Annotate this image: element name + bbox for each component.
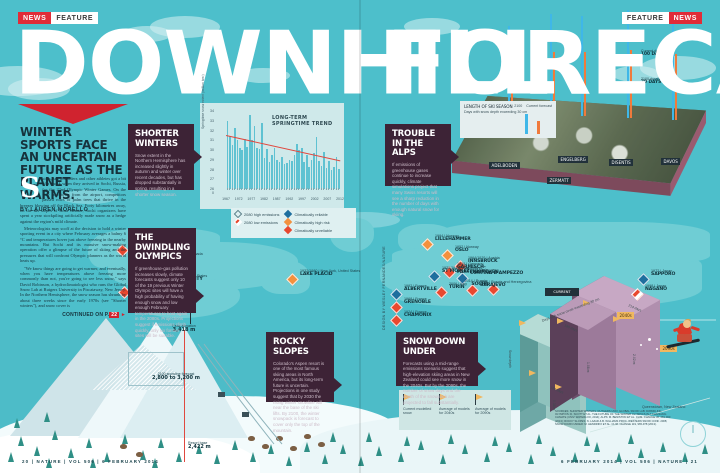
tag-feature[interactable]: FEATURE — [51, 12, 98, 24]
tree-icon — [286, 456, 292, 466]
triangle-right-icon: ► — [121, 312, 126, 318]
olympic-city: GRENOBLE — [404, 301, 468, 305]
resort-label-davos: DAVOS — [661, 158, 680, 165]
year-tag-2040s: 2040s — [617, 312, 634, 319]
snow-spray — [640, 344, 642, 346]
chart-tick-mark — [256, 188, 257, 191]
callout-nib — [194, 150, 202, 164]
chart-tick-mark — [291, 188, 292, 191]
chart-bar — [232, 145, 234, 189]
legend-label: 2080 low emissions — [244, 220, 278, 225]
chart-y-tick-label: 28 — [202, 168, 214, 172]
chart-tick-mark — [286, 188, 287, 191]
tree-icon — [14, 418, 20, 428]
chart-tick-mark — [241, 188, 242, 191]
chart-y-tick-label: 32 — [202, 129, 214, 133]
tree-icon — [8, 452, 14, 462]
tree-icon — [418, 440, 424, 450]
resort-label-zermatt: ZERMATT — [547, 177, 571, 184]
tree-icon — [398, 452, 404, 462]
tree-icon — [18, 436, 24, 446]
chart-tick-mark — [264, 188, 265, 191]
tree-icon — [660, 442, 666, 452]
chart-tick-mark — [318, 188, 319, 191]
callout-rocky-slopes: ROCKY SLOPES Colorado's Aspen resort is … — [266, 332, 334, 402]
legend-column-reliability: Climatically reliable Climatically high … — [285, 211, 332, 235]
chart-bar — [259, 149, 261, 189]
tree-icon — [594, 442, 600, 452]
nz-key-label: Average of models for 2090s — [475, 407, 506, 416]
tree-icon — [322, 454, 328, 464]
chart-shorter-winters: Springtime snow extent (million km²) LON… — [200, 103, 344, 209]
tree-icon — [250, 452, 256, 462]
chart-bar — [333, 167, 335, 189]
rock-shape — [318, 442, 325, 447]
chart-tick-mark — [323, 188, 324, 191]
chart-bar — [249, 115, 251, 189]
chart-tick-mark — [298, 188, 299, 191]
chart-tick-mark — [331, 188, 332, 191]
tree-icon — [122, 434, 128, 444]
olympic-city: NAGANO — [645, 288, 709, 292]
chart-y-tick-label: 31 — [202, 138, 214, 142]
callout-text: If emissions of greenhouse gases continu… — [392, 162, 444, 218]
headline-word-2: FORECAST — [386, 26, 720, 102]
chart-tick-mark — [316, 188, 317, 191]
tree-icon — [638, 448, 644, 458]
olympic-label-grenoble: 1968 | FranceGRENOBLE — [404, 297, 468, 306]
chart-x-tick-label: 1982 — [260, 197, 268, 201]
callout-trouble-alps: TROUBLE IN THE ALPS If emissions of gree… — [385, 124, 451, 186]
elevation-reference-line — [184, 330, 185, 462]
legend-column-emissions: 2080 high emissions 2080 low emissions — [235, 211, 279, 235]
olympic-label-nagano: 1998 | JapanNAGANO — [645, 284, 709, 293]
olympic-city: LILLEHAMMER — [435, 238, 499, 242]
ski-season-swatch-current — [525, 114, 528, 134]
olympic-label-chamonix: 1924 | FranceCHAMONIX — [404, 310, 468, 319]
olympic-label-oslo: 1952 | NorwayOSLO — [455, 245, 519, 254]
chart-tick-mark — [274, 188, 275, 191]
legend-label: Climatically unreliable — [294, 228, 332, 233]
nz-axis-depth: Snow depth — [508, 350, 512, 368]
chart-bar — [256, 148, 258, 189]
orange-diamond-icon — [284, 218, 292, 226]
rock-shape — [136, 452, 143, 457]
snow-spray — [656, 348, 658, 350]
body-paragraph: "We know things are going to get warmer,… — [20, 266, 126, 309]
chart-bar — [239, 148, 241, 189]
olympic-city: OSLO — [455, 249, 519, 253]
blue-diamond-icon — [284, 210, 292, 218]
resort-base-value: 2,422 m — [188, 445, 238, 449]
chart-bar — [316, 137, 318, 189]
chart-bar — [264, 158, 266, 189]
olympic-city: CORTINA D'AMPEZZO — [470, 272, 534, 276]
map-legend: 2080 high emissions 2080 low emissions C… — [231, 208, 356, 238]
chart-tick-mark — [281, 188, 282, 191]
olympic-label-cortina-d-ampezzo: 1956 | ItalyCORTINA D'AMPEZZO — [470, 268, 534, 277]
chart-tick-mark — [311, 188, 312, 191]
body-paragraph: Skiers, snowboarders and other athletes … — [20, 176, 126, 224]
tree-icon — [484, 452, 490, 462]
tag-feature[interactable]: FEATURE — [622, 12, 669, 24]
infographic-page: NEWS FEATURE FEATURE NEWS DOWNHILL FOREC… — [0, 0, 720, 473]
callout-nib — [196, 289, 204, 303]
callout-title: TROUBLE IN THE ALPS — [392, 130, 441, 159]
callout-dwindling-olympics: THE DWINDLING OLYMPICS If greenhouse-gas… — [128, 228, 196, 313]
chart-tick-mark — [269, 188, 270, 191]
resort-label-engelberg: ENGELBERG — [558, 156, 588, 163]
tree-icon — [34, 446, 40, 456]
design-credit: DESIGN BY WESLEY FERNANDES/NATURE — [382, 246, 386, 330]
chart-tick-mark — [237, 188, 238, 191]
legend-label: Climatically high risk — [294, 220, 329, 225]
callout-title: SHORTER WINTERS — [135, 130, 184, 149]
callout-shorter-winters: SHORTER WINTERS Snow extent in the North… — [128, 124, 194, 190]
chart-x-tick-label: 2007 — [323, 197, 331, 201]
tree-icon — [176, 452, 182, 462]
snowline-forecast: 2100 snowline forecast 2,800 to 3,200 m — [150, 372, 202, 381]
chart-tick-mark — [289, 188, 290, 191]
chart-bar — [244, 139, 246, 189]
tree-icon — [366, 432, 372, 442]
olympic-label-innsbruck: 1964/1976 | AustriaINNSBRUCK — [468, 256, 532, 265]
chart-tick-mark — [232, 188, 233, 191]
tag-current-modelled: CURRENT — [545, 288, 579, 296]
olympic-label-lillehammer: 1994 | NorwayLILLEHAMMER — [435, 234, 499, 243]
chart-tick-mark — [239, 188, 240, 191]
chart-bar — [241, 150, 243, 189]
olympic-city: CHAMONIX — [404, 314, 468, 318]
chart-bar — [291, 161, 293, 189]
olympic-city: INNSBRUCK — [468, 260, 532, 264]
nz-label-depth-2040s: 2.02 m — [632, 354, 636, 364]
chart-tick-mark — [284, 188, 285, 191]
body-paragraph: Meteorologists may scoff at the decision… — [20, 226, 126, 263]
nz-label-depth-2090s: 0.38 m — [552, 400, 556, 410]
legend-item: Climatically reliable — [285, 211, 332, 217]
chart-bar — [289, 160, 291, 189]
chart-bar — [338, 169, 340, 189]
callout-text: Snow extent in the Northern Hemisphere h… — [135, 153, 187, 198]
chart-bar — [274, 148, 276, 189]
chart-bar — [303, 162, 305, 189]
chart-tick-mark — [321, 188, 322, 191]
chart-bar — [306, 155, 308, 189]
chart-x-tick-label: 1977 — [247, 197, 255, 201]
chart-tick-mark — [271, 188, 272, 191]
callout-snow-down-under: SNOW DOWN UNDER Forecasts using a mid-ra… — [396, 332, 478, 386]
chart-bar — [271, 155, 273, 189]
olympic-label-lake-placid: 1932/1980 | New York, United StatesLAKE … — [300, 269, 364, 278]
arrow-down-icon — [18, 104, 128, 124]
nz-key-label: Current modelled snow — [403, 407, 431, 416]
chart-bar — [336, 157, 338, 189]
tree-icon — [376, 446, 382, 456]
ski-lift-cabin — [242, 412, 249, 417]
nz-location: Queenstown, New Zealand — [642, 405, 685, 409]
tree-icon — [86, 438, 92, 448]
callout-nib — [478, 362, 486, 376]
chart-x-tick-label: 1987 — [273, 197, 281, 201]
tree-icon — [404, 436, 410, 446]
olympic-label-sapporo: 1972 | JapanSAPPORO — [651, 269, 715, 278]
rock-shape — [120, 444, 127, 449]
chart-bar — [321, 166, 323, 189]
tree-icon — [492, 436, 498, 446]
chart-y-tick-label: 33 — [202, 119, 214, 123]
tree-icon — [304, 442, 310, 452]
legend-item: 2080 high emissions — [235, 211, 279, 217]
half-diamond-icon — [234, 218, 242, 226]
resort-label-disentis: DISENTIS — [609, 159, 633, 166]
snow-spray — [648, 338, 651, 341]
flag-icon — [475, 394, 484, 405]
page-gutter — [359, 0, 361, 473]
chart-bar — [269, 162, 271, 189]
chart-tick-mark — [229, 188, 230, 191]
chart-bar — [313, 153, 315, 189]
chart-bar — [279, 162, 281, 189]
tag-news[interactable]: NEWS — [18, 12, 51, 24]
chart-tick-mark — [333, 188, 334, 191]
chart-bar — [301, 148, 303, 189]
tree-icon — [68, 448, 74, 458]
continued-page: 22 — [109, 312, 119, 318]
chart-plot-area — [226, 111, 340, 189]
chart-tick-mark — [308, 188, 309, 191]
chart-tick-mark — [276, 188, 277, 191]
tree-icon — [52, 430, 58, 440]
chart-tick-mark — [338, 188, 339, 191]
article-body: Skiers, snowboarders and other athletes … — [20, 176, 126, 319]
olympic-label-albertville: 1992 | FranceALBERTVILLE — [404, 284, 468, 293]
chart-bar — [328, 161, 330, 189]
olympic-city: LAKE PLACID — [300, 273, 364, 277]
chart-x-tick-label: 2002 — [311, 197, 319, 201]
callout-text: Forecasts using a mid-range emissions sc… — [403, 361, 471, 406]
resort-base: Resort base 2,422 m — [188, 441, 238, 450]
chart-x-tick-label: 1967 — [222, 197, 230, 201]
page-title-2: FORECAST — [386, 26, 720, 90]
callout-text: If greenhouse-gas pollution increases sl… — [135, 266, 189, 339]
olympic-city: SAPPORO — [651, 273, 715, 277]
chart-tick-mark — [301, 188, 302, 191]
chart-bar — [251, 140, 253, 189]
tree-icon — [330, 432, 336, 442]
snowboarder-illustration — [664, 318, 710, 354]
nz-key-item: Average of models for 2090s — [475, 394, 507, 426]
callout-title: ROCKY SLOPES — [273, 338, 324, 357]
tree-icon — [550, 446, 556, 456]
tree-icon — [462, 444, 468, 454]
legend-item: 2080 low emissions — [235, 219, 279, 225]
tagrow-right: FEATURE NEWS — [622, 12, 702, 24]
chart-tick-mark — [306, 188, 307, 191]
tree-icon — [506, 442, 512, 452]
chart-bar — [311, 160, 313, 189]
tree-icon — [440, 454, 446, 464]
chart-y-tick-label: 27 — [202, 177, 214, 181]
chart-bar — [318, 161, 320, 189]
chart-tick-mark — [246, 188, 247, 191]
sources-note: SOURCES: SHORTER WINTERS: RUTGERS UNIV. … — [555, 410, 675, 426]
chart-bar — [237, 140, 239, 189]
legend-label: Climatically reliable — [294, 212, 327, 217]
continued-link[interactable]: CONTINUED ON P.22 ► — [20, 313, 126, 318]
chart-x-tick-label: 1972 — [235, 197, 243, 201]
chart-bar — [276, 160, 278, 189]
chart-x-tickmarks — [226, 187, 340, 190]
compass-icon — [680, 421, 706, 447]
chart-y-tick-label: 0 — [202, 191, 214, 195]
folio-left: 20 | NATURE | VOL 506 | 6 FEBRUARY 2014 — [22, 459, 159, 464]
chart-bar — [286, 163, 288, 189]
olympic-city: ALBERTVILLE — [404, 288, 468, 292]
continued-label: CONTINUED ON P. — [62, 312, 109, 318]
chart-tick-mark — [279, 188, 280, 191]
tree-icon — [702, 444, 708, 454]
tree-icon — [44, 412, 50, 422]
ski-season-swatch-2100 — [537, 121, 540, 134]
tree-icon — [340, 444, 346, 454]
chart-y-tick-label: 29 — [202, 158, 214, 162]
chart-tick-mark — [251, 188, 252, 191]
chart-tick-mark — [249, 188, 250, 191]
tagrow-left: NEWS FEATURE — [18, 12, 98, 24]
legend-item: Climatically high risk — [285, 219, 332, 225]
chart-bar — [227, 121, 229, 189]
chart-tick-mark — [266, 188, 267, 191]
chart-tick-mark — [303, 188, 304, 191]
chart-tick-mark — [227, 188, 228, 191]
tree-icon — [528, 454, 534, 464]
chart-tick-mark — [244, 188, 245, 191]
tree-icon — [158, 438, 164, 448]
snowline-value: 2,800 to 3,200 m — [150, 376, 202, 380]
folio-right: 6 FEBRUARY 2014 | VOL 506 | NATURE | 21 — [561, 459, 698, 464]
legend-label: 2080 high emissions — [244, 212, 279, 217]
red-diamond-icon — [284, 226, 292, 234]
chart-tick-mark — [259, 188, 260, 191]
resort-label-adelboden: ADELBODEN — [489, 162, 520, 169]
chart-tick-mark — [326, 188, 327, 191]
callout-title: SNOW DOWN UNDER — [403, 338, 468, 357]
nz-label-depth-current: 1.08 m — [586, 362, 590, 372]
chart-tick-mark — [294, 188, 295, 191]
callout-nib — [334, 378, 342, 392]
chart-tick-mark — [261, 188, 262, 191]
chart-bar — [254, 126, 256, 189]
chart-bar — [246, 147, 248, 189]
chart-y-tick-label: 34 — [202, 109, 214, 113]
chart-x-tick-label: 1997 — [298, 197, 306, 201]
chart-bar — [326, 168, 328, 189]
rock-shape — [304, 434, 311, 439]
chart-bar — [229, 136, 231, 189]
chart-bar — [308, 167, 310, 189]
chart-bar — [294, 155, 296, 189]
chart-tick-mark — [336, 188, 337, 191]
chart-tick-mark — [313, 188, 314, 191]
chart-tick-mark — [234, 188, 235, 191]
chart-bar — [261, 123, 263, 189]
chart-tick-mark — [328, 188, 329, 191]
tree-icon — [214, 454, 220, 464]
chart-tick-mark — [254, 188, 255, 191]
dropcap: S — [20, 177, 40, 199]
nz-key-label: Average of models for 2040s — [439, 407, 470, 416]
chart-bar — [284, 164, 286, 189]
chart-x-tick-label: 1992 — [285, 197, 293, 201]
chart-bar — [281, 157, 283, 189]
chart-bar — [298, 150, 300, 189]
ski-lift-cabin — [218, 392, 225, 397]
callout-nib — [451, 150, 459, 164]
chart-tick-mark — [296, 188, 297, 191]
tag-news[interactable]: NEWS — [669, 12, 702, 24]
chart-x-tick-label: 2012 — [336, 197, 344, 201]
callout-text: Colorado's Aspen resort is one of the mo… — [273, 361, 327, 434]
chart-y-tick-label: 30 — [202, 148, 214, 152]
legend-item: Climatically unreliable — [285, 227, 332, 233]
chart-bar — [266, 149, 268, 189]
tree-icon — [448, 434, 454, 444]
callout-title: THE DWINDLING OLYMPICS — [135, 234, 186, 263]
